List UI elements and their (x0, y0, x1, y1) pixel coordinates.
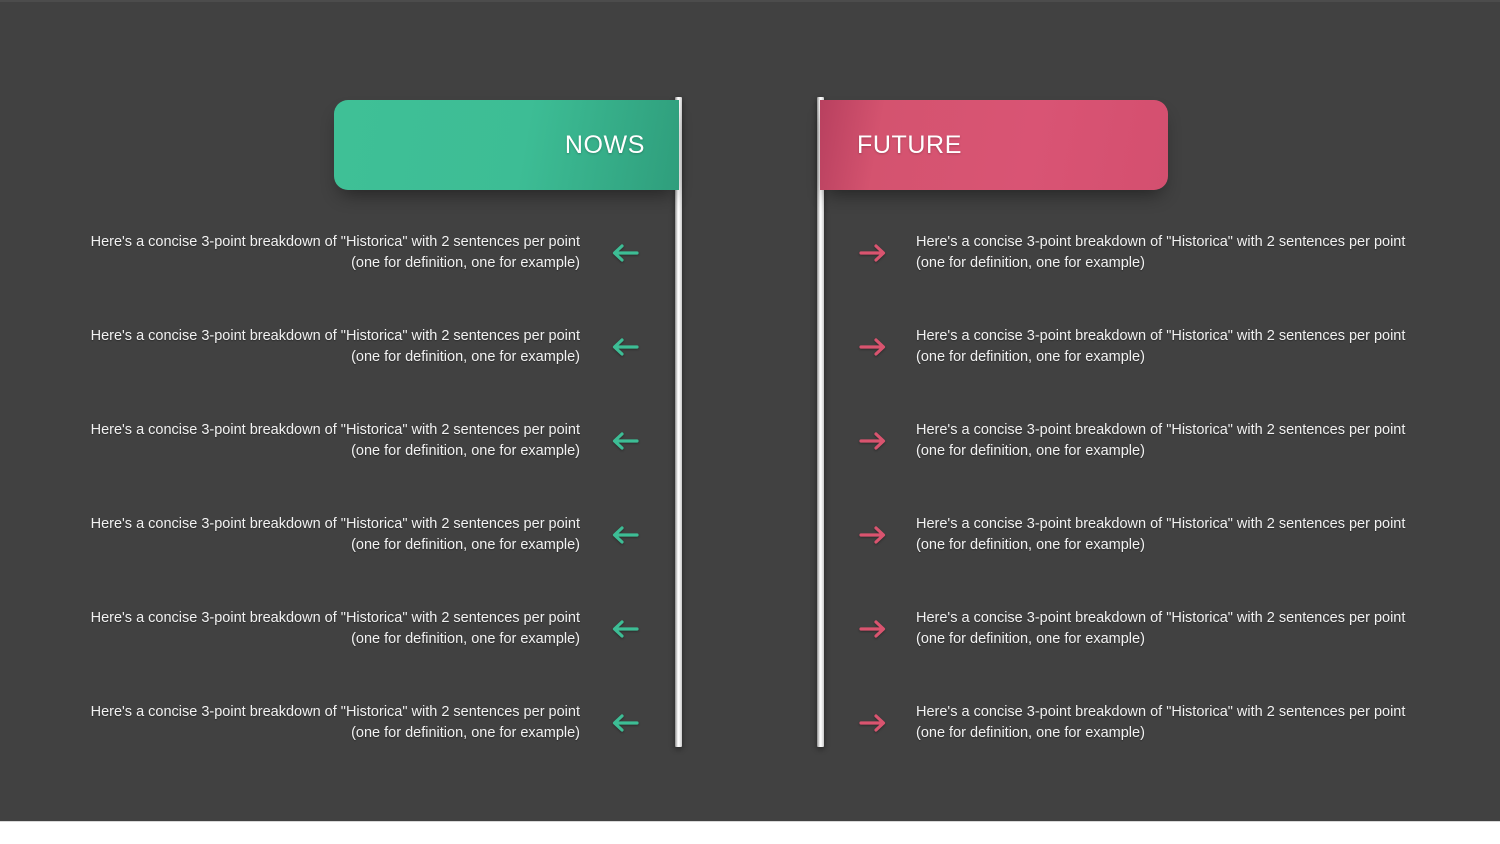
list-item[interactable]: Here's a concise 3-point breakdown of "H… (852, 206, 1412, 300)
list-item[interactable]: Here's a concise 3-point breakdown of "H… (852, 676, 1412, 770)
list-item-text: Here's a concise 3-point breakdown of "H… (916, 608, 1412, 650)
arrow-right-icon (852, 243, 896, 263)
flag-banner-future[interactable]: FUTURE (820, 100, 1168, 190)
list-item[interactable]: Here's a concise 3-point breakdown of "H… (852, 300, 1412, 394)
slide-canvas: NOWS FUTURE Here's a concise 3-point bre… (0, 0, 1500, 844)
list-item-text: Here's a concise 3-point breakdown of "H… (86, 326, 580, 368)
arrow-right-icon (852, 525, 896, 545)
arrow-right-icon (852, 431, 896, 451)
left-column-list: Here's a concise 3-point breakdown of "H… (86, 206, 646, 770)
list-item[interactable]: Here's a concise 3-point breakdown of "H… (852, 488, 1412, 582)
flag-pole-right (817, 97, 824, 747)
flag-title-left: NOWS (565, 131, 645, 160)
list-item-text: Here's a concise 3-point breakdown of "H… (86, 514, 580, 556)
flag-title-right: FUTURE (857, 131, 962, 160)
list-item[interactable]: Here's a concise 3-point breakdown of "H… (86, 394, 646, 488)
list-item-text: Here's a concise 3-point breakdown of "H… (916, 420, 1412, 462)
list-item-text: Here's a concise 3-point breakdown of "H… (916, 326, 1412, 368)
flag-banner-nows[interactable]: NOWS (334, 100, 679, 190)
arrow-left-icon (602, 337, 646, 357)
list-item-text: Here's a concise 3-point breakdown of "H… (916, 514, 1412, 556)
list-item-text: Here's a concise 3-point breakdown of "H… (86, 608, 580, 650)
list-item[interactable]: Here's a concise 3-point breakdown of "H… (86, 206, 646, 300)
bottom-strip (0, 821, 1500, 844)
flag-pole-left (675, 97, 682, 747)
list-item-text: Here's a concise 3-point breakdown of "H… (86, 702, 580, 744)
right-column-list: Here's a concise 3-point breakdown of "H… (852, 206, 1412, 770)
list-item-text: Here's a concise 3-point breakdown of "H… (916, 232, 1412, 274)
arrow-right-icon (852, 619, 896, 639)
list-item-text: Here's a concise 3-point breakdown of "H… (86, 420, 580, 462)
arrow-left-icon (602, 713, 646, 733)
list-item-text: Here's a concise 3-point breakdown of "H… (916, 702, 1412, 744)
list-item[interactable]: Here's a concise 3-point breakdown of "H… (86, 300, 646, 394)
arrow-left-icon (602, 525, 646, 545)
arrow-right-icon (852, 713, 896, 733)
list-item[interactable]: Here's a concise 3-point breakdown of "H… (852, 394, 1412, 488)
list-item[interactable]: Here's a concise 3-point breakdown of "H… (86, 582, 646, 676)
top-hairline (0, 0, 1500, 2)
arrow-right-icon (852, 337, 896, 357)
list-item[interactable]: Here's a concise 3-point breakdown of "H… (86, 488, 646, 582)
list-item[interactable]: Here's a concise 3-point breakdown of "H… (852, 582, 1412, 676)
arrow-left-icon (602, 619, 646, 639)
list-item[interactable]: Here's a concise 3-point breakdown of "H… (86, 676, 646, 770)
arrow-left-icon (602, 243, 646, 263)
arrow-left-icon (602, 431, 646, 451)
list-item-text: Here's a concise 3-point breakdown of "H… (86, 232, 580, 274)
